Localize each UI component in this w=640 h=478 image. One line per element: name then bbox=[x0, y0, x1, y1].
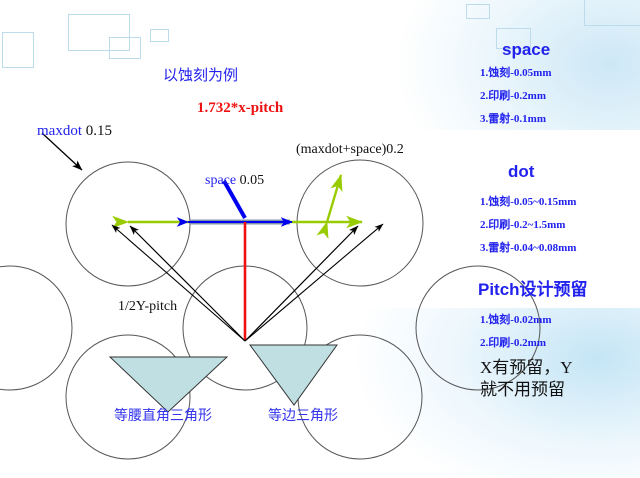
space-label-name: space bbox=[205, 173, 236, 188]
panel-pitch-note-line-1: X有预留，Y bbox=[480, 358, 573, 378]
panel-dot-item-3: 3.雷射-0.04~0.08mm bbox=[480, 242, 576, 255]
panel-pitch-item-2: 2.印刷-0.2mm bbox=[480, 337, 546, 350]
panel-pitch-item-1: 1.蚀刻-0.02mm bbox=[480, 314, 552, 327]
v-arrow-left bbox=[130, 226, 245, 341]
circle-edge-left bbox=[0, 266, 72, 390]
maxdot-label: maxdot 0.15 bbox=[22, 106, 112, 158]
maxdot-label-name: maxdot bbox=[37, 123, 82, 139]
panel-dot-heading: dot bbox=[508, 162, 534, 182]
maxdot-label-value: 0.15 bbox=[82, 123, 112, 139]
maxdot-space-label: (maxdot+space)0.2 bbox=[296, 142, 404, 158]
maxdot-space-arrow bbox=[327, 175, 341, 222]
triangle-left-label: 等腰直角三角形 bbox=[114, 409, 212, 425]
panel-dot-item-2: 2.印刷-0.2~1.5mm bbox=[480, 219, 565, 232]
triangle-right-label: 等边三角形 bbox=[268, 409, 338, 425]
panel-pitch-note-line-2: 就不用预留 bbox=[480, 380, 565, 400]
equilateral-triangle bbox=[250, 345, 337, 405]
isosceles-right-triangle bbox=[110, 357, 227, 412]
panel-space-item-1: 1.蚀刻-0.05mm bbox=[480, 67, 552, 80]
v-arrow-left-ext bbox=[245, 224, 383, 341]
panel-space-item-2: 2.印刷-0.2mm bbox=[480, 90, 546, 103]
half-y-pitch-label: 1/2Y-pitch bbox=[118, 299, 177, 315]
slide-canvas: 以蚀刻为例 1.732*x-pitch maxdot 0.15 space 0.… bbox=[0, 0, 640, 478]
space-label-value: 0.05 bbox=[236, 173, 264, 188]
space-label: space 0.05 bbox=[191, 157, 264, 205]
panel-space-heading: space bbox=[502, 40, 550, 60]
panel-space-item-3: 3.雷射-0.1mm bbox=[480, 113, 546, 126]
diagram-title: 以蚀刻为例 bbox=[163, 68, 238, 85]
formula-label: 1.732*x-pitch bbox=[197, 100, 283, 117]
v-arrow-right-ext bbox=[112, 225, 245, 341]
panel-pitch-heading: Pitch设计预留 bbox=[478, 280, 588, 300]
panel-dot-item-1: 1.蚀刻-0.05~0.15mm bbox=[480, 196, 576, 209]
